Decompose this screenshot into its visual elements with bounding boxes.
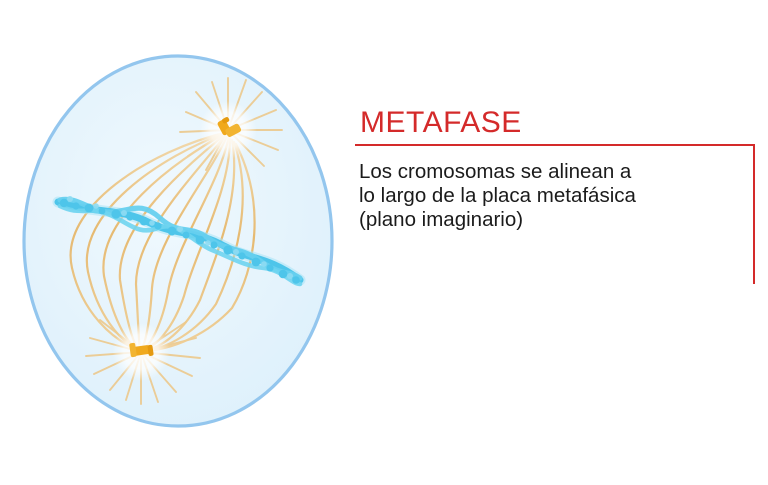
phase-description-text: Los cromosomas se alinean a lo largo de … <box>359 160 749 233</box>
metaphase-cell-figure <box>0 0 360 480</box>
title-underline-rule <box>355 144 755 146</box>
cell-svg <box>0 0 360 480</box>
cell-membrane <box>24 56 332 426</box>
title-rule-vertical-stem <box>753 144 755 284</box>
page-title: METAFASE <box>360 108 522 138</box>
diagram-canvas: METAFASE Los cromosomas se alinean a lo … <box>0 0 768 480</box>
description-panel: METAFASE Los cromosomas se alinean a lo … <box>355 100 768 300</box>
